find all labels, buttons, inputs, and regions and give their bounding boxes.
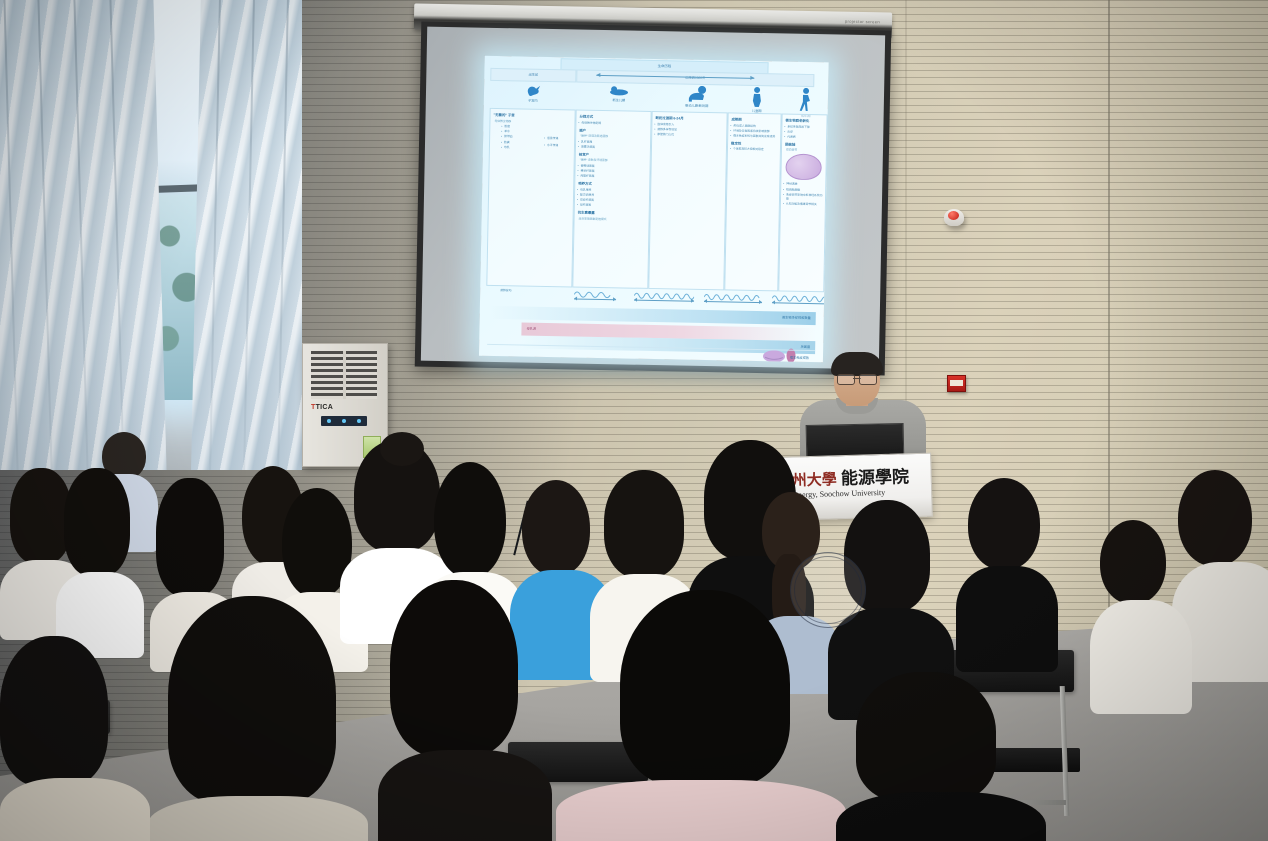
audience-member (556, 590, 836, 841)
card-group-heading: 抗生素暴露 (578, 210, 649, 216)
presenter-glasses-icon (837, 374, 877, 383)
lecture-hall-photo: TTICA projector screen 生命历程 出生前 出生后1000天 (0, 0, 1268, 841)
projector-screen: 生命历程 出生前 出生后1000天 子宫内 新生儿期 婴幼儿期/断奶期 (415, 22, 892, 376)
slide-card-2: 断奶过渡期 6-24月 固体食物引入 菌群多样性增加 厚壁菌门占优 (648, 111, 727, 290)
wave-label: 菌群波动 (500, 288, 511, 292)
presentation-slide: 生命历程 出生前 出生后1000天 子宫内 新生儿期 婴幼儿期/断奶期 (479, 56, 829, 363)
screen-brand-logo: projector screen (845, 19, 880, 25)
curtain-right (191, 0, 302, 470)
card-item: 宿主免疫系统与菌群共同发育成熟 (733, 133, 780, 138)
ac-led-2 (342, 419, 346, 423)
slide-icon-caption: 新生儿期 (594, 97, 644, 103)
audience-member (956, 478, 1052, 668)
slide-icon-fetus: 子宫内 (508, 82, 558, 103)
card-item: 环境及饮食因素持续影响菌群 (733, 128, 780, 133)
card-item: 类似成人菌群结构 (733, 123, 780, 128)
audience-member (378, 580, 544, 841)
card-heading: "无菌的" 子宫 (494, 112, 575, 119)
card-group-sub: 双向调节 (786, 148, 826, 153)
audience-member (0, 636, 140, 841)
card-heading: 微生物群老龄化 (785, 118, 826, 124)
slide-card-0: "无菌的" 子宫 母体微生物群 胎盘 羊水 脐带血 胎粪 母乳 垂直传递 水平传… (486, 108, 575, 288)
curtain-left (0, 0, 167, 470)
card-group-sub: 改变早期菌群定植模式 (579, 216, 649, 221)
card-item: 普雷沃菌属 (581, 144, 650, 149)
slide-card-3: 成熟期 类似成人菌群结构 环境及饮食因素持续影响菌群 宿主免疫系统与菌群共同发育… (724, 112, 781, 291)
card-item: 神经递质 (786, 182, 825, 187)
card-group-heading: 剖宫产 (579, 151, 650, 157)
wave-1 (634, 287, 694, 304)
audience-member (148, 596, 358, 841)
card-item: 认知功能及情绪调节相关 (786, 201, 825, 206)
card-heading: 成熟期 (731, 116, 780, 122)
card-item: 代谢病 (787, 134, 826, 139)
card-item: 免疫调节影响中枢神经系统功能 (786, 192, 825, 201)
gut-brain-illustration (785, 154, 821, 181)
slide-icon-child-standing: 儿童期 (734, 87, 780, 114)
fire-alarm-beacon-icon (944, 209, 964, 226)
slide-icon-crawling-baby: 婴幼儿期/断奶期 (670, 85, 724, 108)
audience-member (56, 468, 140, 638)
audience-member (1090, 520, 1186, 710)
slide-icon-caption: 婴幼儿期/断奶期 (670, 102, 724, 108)
card-item: 拟杆菌属 (580, 203, 649, 208)
wave-2 (704, 288, 762, 305)
screen-surface: 生命历程 出生前 出生后1000天 子宫内 新生儿期 婴幼儿期/断奶期 (421, 27, 885, 370)
card-group-heading: 喂养方式 (578, 181, 649, 187)
card-side-item: 垂直传递 (547, 136, 558, 140)
card-item: 炎症 (787, 129, 826, 134)
card-item: 短链脂肪酸 (786, 187, 825, 192)
slide-col-head-0: 出生前 (490, 68, 576, 83)
audience-member (836, 672, 1036, 841)
card-sub: 母体微生物群 (494, 118, 574, 124)
ac-control-panel[interactable] (321, 416, 367, 426)
card-item: 多样性随年龄下降 (787, 124, 826, 129)
card-side-item: 水平传递 (547, 143, 558, 147)
card-group-heading: 肠脑轴 (785, 141, 826, 147)
slide-card-4: 微生物群老龄化 多样性随年龄下降 炎症 代谢病 肠脑轴 双向调节 神经递质 短链… (778, 113, 827, 292)
manual-call-point-icon[interactable] (947, 375, 966, 392)
presenter-hair (831, 352, 883, 376)
card-group-sub: "播种" 皮肤及环境菌群 (580, 158, 650, 163)
slide-card-1: 分娩方式 母体微生物定植 顺产 "播种" 阴道及肠道菌群 乳杆菌属 普雷沃菌属 … (572, 109, 651, 288)
card-group-heading: 顺产 (579, 127, 650, 133)
card-item: 丙酸杆菌属 (580, 174, 649, 179)
ac-led-1 (327, 419, 331, 423)
podium-college-name: 能源學院 (841, 467, 910, 488)
wave-0 (574, 286, 616, 303)
card-heading: 分娩方式 (580, 114, 651, 120)
card-item: 母体微生物定植 (581, 120, 650, 125)
card-item: 厚壁菌门占优 (657, 132, 726, 137)
slide-icon-caption: 子宫内 (508, 97, 558, 103)
card-group-heading: 稳定性 (731, 140, 780, 146)
card-heading: 断奶过渡期 6-24月 (656, 115, 727, 121)
wave-3 (772, 289, 829, 306)
ac-brand-label: TTICA (311, 404, 333, 411)
slide-icon-newborn: 新生儿期 (594, 84, 644, 103)
card-item: 母乳 (504, 145, 574, 150)
ac-led-3 (357, 419, 361, 423)
window-area (0, 0, 302, 470)
card-group-sub: "播种" 阴道及肠道菌群 (580, 134, 650, 139)
card-item: 个体差异较大但相对稳定 (733, 147, 780, 152)
